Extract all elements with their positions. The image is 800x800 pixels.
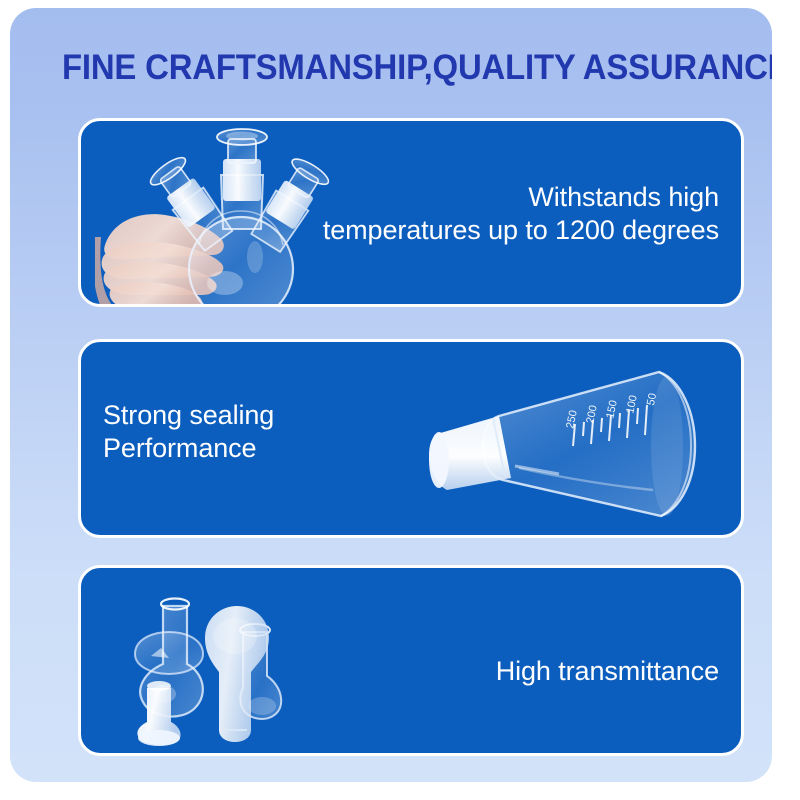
frosted-pear-flask bbox=[205, 606, 269, 742]
right-flask bbox=[240, 624, 281, 719]
hand-holding-flask bbox=[95, 214, 224, 307]
tall-neck-round-bottom-flask bbox=[140, 599, 203, 717]
feature-card-heat-resistance[interactable]: Withstands high temperatures up to 1200 … bbox=[78, 118, 744, 307]
page-title: FINE CRAFTSMANSHIP,QUALITY ASSURANCE bbox=[62, 46, 720, 90]
ground-glass-joint-neck bbox=[429, 416, 511, 490]
product-feature-graphic: FINE CRAFTSMANSHIP,QUALITY ASSURANCE bbox=[0, 0, 800, 800]
round-bottom-flasks-and-ground-glass-stopper-image bbox=[117, 570, 407, 756]
flask-bulb bbox=[189, 211, 293, 307]
graduation-labels: 250 200 150 100 50 bbox=[564, 392, 659, 429]
feature-card-sealing[interactable]: 250 200 150 100 50 Strong sealing Per bbox=[78, 339, 744, 538]
erlenmeyer-body bbox=[483, 372, 695, 516]
right-neck-with-stopper bbox=[248, 155, 332, 254]
feature-card-sealing-text: Strong sealing Performance bbox=[103, 399, 274, 465]
center-neck-with-stopper bbox=[217, 129, 267, 229]
feature-card-heat-resistance-text: Withstands high temperatures up to 1200 … bbox=[323, 181, 719, 247]
left-neck-with-stopper bbox=[147, 153, 236, 253]
svg-text:50: 50 bbox=[645, 392, 659, 406]
shallow-dish bbox=[135, 632, 203, 674]
graduation-scale bbox=[573, 405, 647, 446]
background-panel: FINE CRAFTSMANSHIP,QUALITY ASSURANCE bbox=[10, 8, 772, 782]
feature-card-transmittance[interactable]: High transmittance bbox=[78, 565, 744, 756]
svg-text:100: 100 bbox=[624, 394, 640, 414]
feature-card-transmittance-text: High transmittance bbox=[496, 655, 719, 688]
svg-text:200: 200 bbox=[584, 404, 600, 424]
svg-text:150: 150 bbox=[604, 399, 620, 419]
svg-text:250: 250 bbox=[564, 409, 580, 429]
lower-frost-band bbox=[515, 466, 559, 474]
erlenmeyer-flask-with-ground-glass-joint-image: 250 200 150 100 50 bbox=[423, 350, 743, 536]
ground-glass-stopper bbox=[137, 681, 180, 746]
